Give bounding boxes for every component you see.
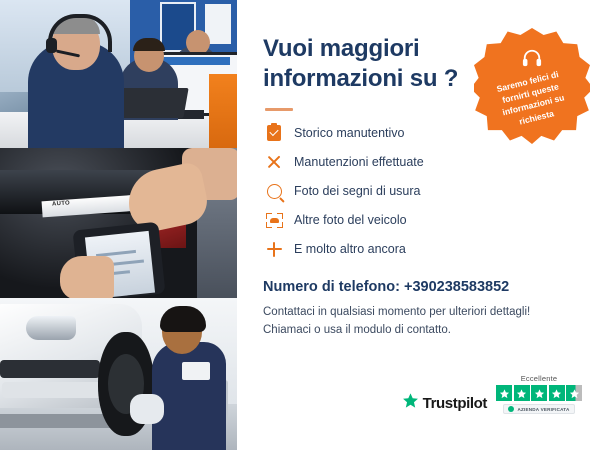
feature-label: E molto altro ancora: [294, 243, 406, 256]
headlight: [26, 316, 76, 340]
feature-label: Altre foto del veicolo: [294, 214, 407, 227]
star-icon: [496, 385, 512, 401]
magnifier-icon: [263, 181, 285, 201]
sticker-logo-text: AUTO: [52, 200, 70, 207]
plus-icon: [263, 239, 285, 259]
contact-text: Contattaci in qualsiasi momento per ulte…: [263, 304, 576, 340]
mechanic-body: [152, 342, 226, 450]
trustpilot-rating: Eccellente AZIENDA VERIFICATA: [496, 374, 582, 414]
badge-text: Saremo felici di fornirti queste informa…: [485, 66, 578, 134]
vehicle-inspection-sticker-photo: AUTO: [0, 148, 237, 298]
request-info-badge: Saremo felici di fornirti queste informa…: [474, 28, 590, 144]
orange-foreground-object: [209, 74, 237, 148]
verified-business-badge: AZIENDA VERIFICATA: [503, 404, 574, 414]
content-panel: Vuoi maggiori informazioni su ? Storico …: [237, 0, 600, 450]
call-center-agents-photo: [0, 0, 237, 148]
list-item: Foto dei segni di usura: [263, 181, 576, 201]
trustpilot-stars: [496, 385, 582, 401]
list-item: E molto altro ancora: [263, 239, 576, 259]
mechanic-hair: [160, 306, 206, 332]
feature-label: Manutenzioni effettuate: [294, 156, 424, 169]
star-icon-half: [566, 385, 582, 401]
title-divider: [265, 108, 293, 111]
laptop: [115, 88, 188, 118]
mechanic-wheel-lift-photo: [0, 298, 237, 450]
star-icon: [514, 385, 530, 401]
feature-label: Foto dei segni di usura: [294, 185, 420, 198]
checklist-icon: [263, 123, 285, 143]
page-title: Vuoi maggiori informazioni su ?: [263, 34, 463, 94]
lift-platform: [0, 414, 120, 428]
list-item: Altre foto del veicolo: [263, 210, 576, 230]
phone-line: Numero di telefono: +390238583852: [263, 279, 576, 295]
verified-text: AZIENDA VERIFICATA: [517, 407, 569, 412]
trustpilot-brand: Trustpilot: [402, 392, 487, 414]
feature-list: Storico manutentivo Manutenzioni effettu…: [263, 123, 576, 259]
mechanic-glove: [130, 394, 164, 424]
promo-banner: AUTO Vu: [0, 0, 600, 450]
trustpilot-star-icon: [402, 392, 419, 414]
front-grille: [0, 360, 100, 378]
contact-line-1: Contattaci in qualsiasi momento per ulte…: [263, 304, 576, 322]
second-agent-hair: [133, 38, 165, 51]
uniform-logo-patch: [182, 362, 210, 380]
star-icon: [549, 385, 565, 401]
feature-label: Storico manutentivo: [294, 127, 404, 140]
technician-hand-holding-tablet: [60, 256, 114, 298]
headset-icon: [521, 48, 543, 73]
verified-dot-icon: [508, 406, 514, 412]
star-icon: [531, 385, 547, 401]
trustpilot-rating-label: Eccellente: [521, 374, 558, 383]
contact-line-2: Chiamaci o usa il modulo di contatto.: [263, 322, 576, 340]
phone-number[interactable]: +390238583852: [404, 279, 509, 295]
left-gallery: AUTO: [0, 0, 237, 450]
phone-label: Numero di telefono:: [263, 279, 404, 295]
trustpilot-widget[interactable]: Trustpilot Eccellente AZIENDA VERIFICATA: [402, 374, 582, 414]
trustpilot-name: Trustpilot: [423, 395, 487, 412]
list-item: Manutenzioni effettuate: [263, 152, 576, 172]
wrench-cross-icon: [263, 152, 285, 172]
car-frame-icon: [263, 210, 285, 230]
